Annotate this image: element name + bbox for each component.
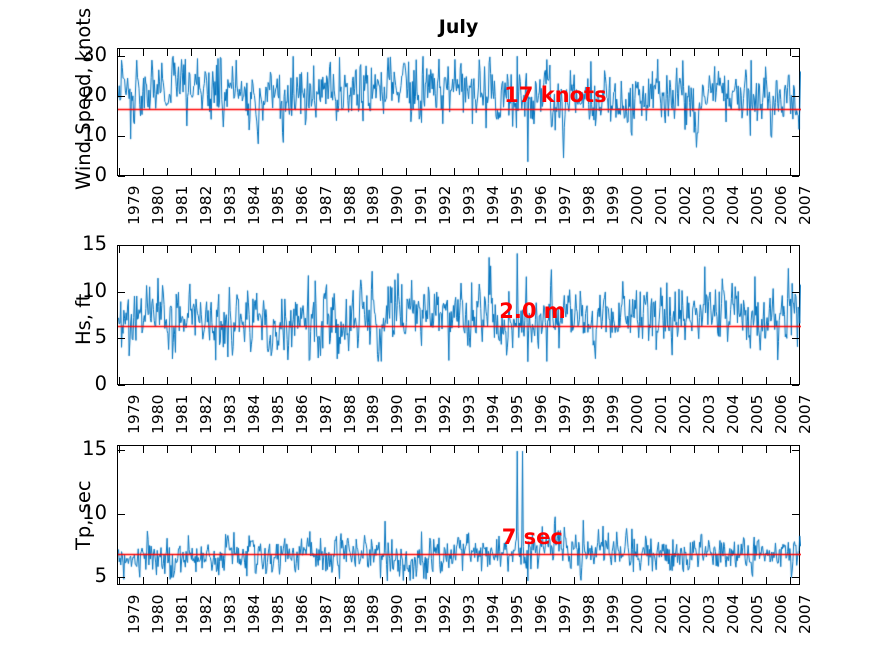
xtick-label-1999: 1999: [604, 395, 622, 434]
xtick-label-2007: 2007: [796, 186, 814, 225]
panel-3-xtick-mark: [454, 446, 455, 453]
panel-1-xtick-mark: [478, 49, 479, 56]
panel-1-xtick-mark: [790, 168, 791, 175]
panel-3-xtick-mark: [742, 446, 743, 453]
xtick-label-1981: 1981: [173, 595, 191, 634]
panel-2-xtick-mark: [718, 377, 719, 384]
panel-2-xtick-mark: [526, 246, 527, 253]
panel-1-ytick-mark: [792, 56, 799, 57]
panel-2-ytick-mark: [118, 292, 125, 293]
xtick-label-1989: 1989: [364, 186, 382, 225]
panel-2-xtick-mark: [598, 246, 599, 253]
panel-2-xtick-mark: [478, 246, 479, 253]
panel-1-xtick-mark: [430, 49, 431, 56]
panel-2-plot-area: [117, 245, 800, 385]
xtick-label-1979: 1979: [125, 595, 143, 634]
xtick-label-1994: 1994: [484, 186, 502, 225]
xtick-label-1980: 1980: [149, 395, 167, 434]
panel-1-series-canvas: [118, 49, 801, 177]
panel-3-ytick-mark: [118, 514, 125, 515]
panel-2-xtick-mark: [167, 377, 168, 384]
xtick-label-1996: 1996: [532, 395, 550, 434]
xtick-label-1985: 1985: [269, 595, 287, 634]
panel-1-xtick-mark: [526, 168, 527, 175]
panel-1-xtick-mark: [239, 168, 240, 175]
panel-3-xtick-mark: [167, 577, 168, 584]
xtick-label-1998: 1998: [580, 186, 598, 225]
panel-2-series-canvas: [118, 246, 801, 386]
panel-1-ytick-mark: [792, 136, 799, 137]
xtick-label-1990: 1990: [388, 595, 406, 634]
panel-3-xtick-mark: [406, 577, 407, 584]
panel-2-xtick-mark: [335, 246, 336, 253]
panel-2-xtick-mark: [335, 377, 336, 384]
xtick-label-2002: 2002: [676, 595, 694, 634]
xtick-label-1984: 1984: [245, 595, 263, 634]
xtick-label-1989: 1989: [364, 395, 382, 434]
panel-3-xtick-mark: [550, 577, 551, 584]
panel-2-xtick-mark: [239, 377, 240, 384]
panel-2-xtick-mark: [502, 246, 503, 253]
xtick-label-1979: 1979: [125, 186, 143, 225]
panel-1-xtick-mark: [478, 168, 479, 175]
panel-2-xtick-mark: [574, 377, 575, 384]
panel-1-xtick-mark: [454, 49, 455, 56]
panel-1-xtick-mark: [598, 49, 599, 56]
xtick-label-2002: 2002: [676, 186, 694, 225]
panel-3-xtick-mark: [790, 577, 791, 584]
panel-2-xtick-mark: [191, 377, 192, 384]
panel-2-xtick-mark: [550, 377, 551, 384]
panel-3-ytick-label: 15: [55, 437, 107, 460]
panel-2-xtick-mark: [694, 246, 695, 253]
panel-1-xtick-mark: [382, 49, 383, 56]
xtick-label-1987: 1987: [317, 186, 335, 225]
panel-1-xtick-mark: [550, 49, 551, 56]
panel-2-xtick-mark: [430, 246, 431, 253]
xtick-label-2005: 2005: [748, 186, 766, 225]
xtick-label-1991: 1991: [412, 595, 430, 634]
xtick-label-1988: 1988: [341, 186, 359, 225]
panel-2-xtick-mark: [263, 377, 264, 384]
xtick-label-1995: 1995: [508, 186, 526, 225]
panel-2-xtick-mark: [119, 377, 120, 384]
panel-2-xtick-mark: [766, 246, 767, 253]
panel-1-ytick-mark: [118, 56, 125, 57]
xtick-label-2001: 2001: [652, 186, 670, 225]
panel-1-ytick-label: 0: [55, 163, 107, 186]
panel-2-xtick-mark: [143, 377, 144, 384]
panel-2-xtick-mark: [670, 377, 671, 384]
xtick-label-1987: 1987: [317, 395, 335, 434]
panel-1-xtick-mark: [143, 49, 144, 56]
panel-3-xtick-mark: [478, 446, 479, 453]
panel-2-xtick-mark: [646, 377, 647, 384]
xtick-label-1981: 1981: [173, 186, 191, 225]
xtick-label-1992: 1992: [436, 595, 454, 634]
xtick-label-1988: 1988: [341, 395, 359, 434]
panel-2-ytick-label: 0: [55, 372, 107, 395]
panel-3-xtick-mark: [358, 446, 359, 453]
panel-3-xtick-mark: [382, 446, 383, 453]
panel-1-xtick-mark: [622, 168, 623, 175]
xtick-label-1998: 1998: [580, 395, 598, 434]
panel-3-xtick-mark: [718, 446, 719, 453]
panel-2-xtick-mark: [358, 246, 359, 253]
panel-3-xtick-mark: [526, 446, 527, 453]
panel-1-ytick-mark: [118, 96, 125, 97]
xtick-label-1986: 1986: [293, 595, 311, 634]
panel-3-xtick-mark: [191, 577, 192, 584]
panel-2-ytick-mark: [118, 338, 125, 339]
panel-3-xtick-mark: [358, 577, 359, 584]
xtick-label-1991: 1991: [412, 186, 430, 225]
panel-3-xtick-mark: [622, 577, 623, 584]
xtick-label-2007: 2007: [796, 395, 814, 434]
xtick-label-2005: 2005: [748, 595, 766, 634]
xtick-label-2006: 2006: [772, 186, 790, 225]
panel-1-xtick-mark: [694, 168, 695, 175]
panel-1-ytick-mark: [792, 176, 799, 177]
panel-1-xtick-mark: [406, 168, 407, 175]
panel-2-xtick-mark: [526, 377, 527, 384]
panel-2-ytick-mark: [792, 245, 799, 246]
panel-3-xtick-mark: [766, 577, 767, 584]
panel-2-ytick-mark: [792, 385, 799, 386]
panel-3-xtick-mark: [478, 577, 479, 584]
panel-3-xtick-mark: [622, 446, 623, 453]
xtick-label-1983: 1983: [221, 186, 239, 225]
panel-2-xtick-mark: [742, 377, 743, 384]
panel-1-xtick-mark: [694, 49, 695, 56]
panel-2-ytick-mark: [118, 385, 125, 386]
xtick-label-2000: 2000: [628, 395, 646, 434]
panel-3-xtick-mark: [574, 446, 575, 453]
xtick-label-1986: 1986: [293, 186, 311, 225]
xtick-label-1988: 1988: [341, 595, 359, 634]
xtick-label-1986: 1986: [293, 395, 311, 434]
panel-3-xtick-mark: [718, 577, 719, 584]
panel-1-xtick-mark: [670, 168, 671, 175]
xtick-label-1998: 1998: [580, 595, 598, 634]
xtick-label-1982: 1982: [197, 595, 215, 634]
xtick-label-2006: 2006: [772, 595, 790, 634]
xtick-label-2005: 2005: [748, 395, 766, 434]
panel-3-xtick-mark: [119, 577, 120, 584]
panel-2-xtick-mark: [622, 246, 623, 253]
panel-1-xtick-mark: [263, 168, 264, 175]
panel-1-xtick-mark: [167, 168, 168, 175]
xtick-label-2002: 2002: [676, 395, 694, 434]
panel-1-xtick-mark: [742, 49, 743, 56]
panel-1-xtick-mark: [574, 49, 575, 56]
panel-2-xtick-mark: [406, 246, 407, 253]
panel-2-xtick-mark: [694, 377, 695, 384]
panel-3-xtick-mark: [526, 577, 527, 584]
panel-3-ytick-mark: [792, 450, 799, 451]
panel-2-xtick-mark: [311, 377, 312, 384]
panel-3-xtick-mark: [574, 577, 575, 584]
panel-2-ytick-mark: [792, 292, 799, 293]
panel-2-xtick-mark: [215, 246, 216, 253]
panel-1-annotation: 17 knots: [504, 83, 606, 107]
panel-2-xtick-mark: [215, 377, 216, 384]
panel-2-xtick-mark: [239, 246, 240, 253]
panel-2-annotation: 2.0 m: [499, 299, 565, 323]
panel-3-xtick-mark: [215, 577, 216, 584]
panel-3-xtick-mark: [598, 446, 599, 453]
xtick-label-2004: 2004: [724, 395, 742, 434]
xtick-label-2004: 2004: [724, 595, 742, 634]
panel-3-xtick-mark: [311, 577, 312, 584]
panel-3-xtick-mark: [311, 446, 312, 453]
panel-2-xtick-mark: [766, 377, 767, 384]
panel-3-xtick-mark: [263, 577, 264, 584]
panel-1-xtick-mark: [191, 168, 192, 175]
panel-2-xtick-mark: [358, 377, 359, 384]
panel-3-xtick-mark: [119, 446, 120, 453]
panel-1-ytick-label: 20: [55, 83, 107, 106]
panel-1-ytick-mark: [118, 176, 125, 177]
panel-1-xtick-mark: [406, 49, 407, 56]
panel-1-xtick-mark: [502, 49, 503, 56]
xtick-label-1980: 1980: [149, 595, 167, 634]
panel-2-xtick-mark: [143, 246, 144, 253]
panel-2-ytick-label: 5: [55, 325, 107, 348]
panel-3-plot-area: [117, 445, 800, 585]
panel-2-xtick-mark: [550, 246, 551, 253]
panel-3-xtick-mark: [406, 446, 407, 453]
xtick-label-1993: 1993: [460, 395, 478, 434]
xtick-label-2007: 2007: [796, 595, 814, 634]
xtick-label-1984: 1984: [245, 186, 263, 225]
panel-2-xtick-mark: [718, 246, 719, 253]
xtick-label-1996: 1996: [532, 595, 550, 634]
panel-2-ytick-label: 10: [55, 279, 107, 302]
panel-2-xtick-mark: [742, 246, 743, 253]
xtick-label-2006: 2006: [772, 395, 790, 434]
panel-2-xtick-mark: [502, 377, 503, 384]
panel-1-xtick-mark: [358, 168, 359, 175]
panel-1-xtick-mark: [790, 49, 791, 56]
panel-1-xtick-mark: [263, 49, 264, 56]
xtick-label-1980: 1980: [149, 186, 167, 225]
panel-3-xtick-mark: [215, 446, 216, 453]
panel-3-xtick-mark: [646, 577, 647, 584]
xtick-label-1997: 1997: [556, 186, 574, 225]
panel-3-xtick-mark: [742, 577, 743, 584]
panel-1-xtick-mark: [574, 168, 575, 175]
xtick-label-1993: 1993: [460, 186, 478, 225]
xtick-label-1992: 1992: [436, 186, 454, 225]
panel-1-plot-area: [117, 48, 800, 176]
xtick-label-1990: 1990: [388, 186, 406, 225]
xtick-label-1987: 1987: [317, 595, 335, 634]
panel-3-ytick-mark: [792, 514, 799, 515]
panel-3-xtick-mark: [694, 577, 695, 584]
panel-3-xtick-mark: [239, 577, 240, 584]
panel-1-xtick-mark: [742, 168, 743, 175]
panel-2-xtick-mark: [167, 246, 168, 253]
panel-2-xtick-mark: [382, 377, 383, 384]
xtick-label-1989: 1989: [364, 595, 382, 634]
xtick-label-1995: 1995: [508, 595, 526, 634]
xtick-label-1979: 1979: [125, 395, 143, 434]
panel-2-xtick-mark: [670, 246, 671, 253]
xtick-label-1984: 1984: [245, 395, 263, 434]
panel-3-xtick-mark: [550, 446, 551, 453]
panel-1-xtick-mark: [526, 49, 527, 56]
panel-1-xtick-mark: [287, 168, 288, 175]
xtick-label-1985: 1985: [269, 186, 287, 225]
panel-1-xtick-mark: [311, 49, 312, 56]
panel-3-xtick-mark: [287, 446, 288, 453]
panel-3-annotation: 7 sec: [502, 525, 563, 549]
panel-3-xtick-mark: [263, 446, 264, 453]
xtick-label-1999: 1999: [604, 186, 622, 225]
xtick-label-2003: 2003: [700, 595, 718, 634]
panel-3-xtick-mark: [191, 446, 192, 453]
panel-1-ytick-label: 30: [55, 43, 107, 66]
panel-3-xtick-mark: [335, 577, 336, 584]
panel-2-xtick-mark: [263, 246, 264, 253]
xtick-label-2003: 2003: [700, 395, 718, 434]
panel-3-xtick-mark: [239, 446, 240, 453]
panel-1-xtick-mark: [191, 49, 192, 56]
xtick-label-1997: 1997: [556, 395, 574, 434]
panel-2-xtick-mark: [598, 377, 599, 384]
panel-1-xtick-mark: [430, 168, 431, 175]
panel-1-xtick-mark: [335, 168, 336, 175]
panel-3-xtick-mark: [382, 577, 383, 584]
panel-1-xtick-mark: [550, 168, 551, 175]
xtick-label-1982: 1982: [197, 186, 215, 225]
panel-3-xtick-mark: [646, 446, 647, 453]
xtick-label-1994: 1994: [484, 395, 502, 434]
panel-2-xtick-mark: [287, 377, 288, 384]
xtick-label-2000: 2000: [628, 595, 646, 634]
panel-1-ytick-mark: [118, 136, 125, 137]
xtick-label-1997: 1997: [556, 595, 574, 634]
panel-3-xtick-mark: [790, 446, 791, 453]
panel-1-xtick-mark: [287, 49, 288, 56]
panel-1-xtick-mark: [335, 49, 336, 56]
panel-1-xtick-mark: [382, 168, 383, 175]
panel-1-xtick-mark: [143, 168, 144, 175]
panel-2-xtick-mark: [622, 377, 623, 384]
panel-2-xtick-mark: [574, 246, 575, 253]
panel-3-xtick-mark: [766, 446, 767, 453]
figure-title: July: [117, 16, 800, 38]
panel-1-xtick-mark: [766, 168, 767, 175]
panel-2-xtick-mark: [406, 377, 407, 384]
panel-2-xtick-mark: [790, 246, 791, 253]
panel-1-xtick-mark: [622, 49, 623, 56]
panel-2-ytick-label: 15: [55, 232, 107, 255]
panel-2-xtick-mark: [646, 246, 647, 253]
xtick-label-1982: 1982: [197, 395, 215, 434]
panel-1-xtick-mark: [670, 49, 671, 56]
panel-3-xtick-mark: [670, 577, 671, 584]
panel-3-ytick-mark: [792, 577, 799, 578]
panel-3-xtick-mark: [143, 577, 144, 584]
xtick-label-2001: 2001: [652, 595, 670, 634]
xtick-label-2004: 2004: [724, 186, 742, 225]
panel-2-xtick-mark: [119, 246, 120, 253]
panel-3-xtick-mark: [598, 577, 599, 584]
panel-1-xtick-mark: [646, 49, 647, 56]
panel-1-xtick-mark: [454, 168, 455, 175]
xtick-label-1983: 1983: [221, 395, 239, 434]
panel-3-ytick-label: 5: [55, 564, 107, 587]
panel-1-xtick-mark: [311, 168, 312, 175]
xtick-label-1985: 1985: [269, 395, 287, 434]
xtick-label-1993: 1993: [460, 595, 478, 634]
panel-2-xtick-mark: [790, 377, 791, 384]
panel-1-xtick-mark: [167, 49, 168, 56]
panel-1-xtick-mark: [766, 49, 767, 56]
panel-3-xtick-mark: [143, 446, 144, 453]
xtick-label-1994: 1994: [484, 595, 502, 634]
panel-1-xtick-mark: [215, 49, 216, 56]
xtick-label-2000: 2000: [628, 186, 646, 225]
xtick-label-1991: 1991: [412, 395, 430, 434]
xtick-label-1992: 1992: [436, 395, 454, 434]
xtick-label-1996: 1996: [532, 186, 550, 225]
panel-2-xtick-mark: [191, 246, 192, 253]
panel-1-ytick-label: 10: [55, 123, 107, 146]
panel-1-xtick-mark: [119, 168, 120, 175]
figure-canvas: July Wind Speed, knots 0102030 197919801…: [0, 0, 875, 656]
panel-1-xtick-mark: [239, 49, 240, 56]
xtick-label-2001: 2001: [652, 395, 670, 434]
xtick-label-2003: 2003: [700, 186, 718, 225]
panel-1-xtick-mark: [718, 168, 719, 175]
panel-3-xtick-mark: [335, 446, 336, 453]
panel-3-xtick-mark: [430, 446, 431, 453]
panel-2-xtick-mark: [287, 246, 288, 253]
panel-3-xtick-mark: [670, 446, 671, 453]
xtick-label-1995: 1995: [508, 395, 526, 434]
xtick-label-1981: 1981: [173, 395, 191, 434]
xtick-label-1990: 1990: [388, 395, 406, 434]
xtick-label-1983: 1983: [221, 595, 239, 634]
panel-2-xtick-mark: [454, 377, 455, 384]
panel-3-xtick-mark: [502, 446, 503, 453]
panel-1-xtick-mark: [358, 49, 359, 56]
panel-3-xtick-mark: [502, 577, 503, 584]
panel-1-xtick-mark: [598, 168, 599, 175]
xtick-label-1999: 1999: [604, 595, 622, 634]
panel-1-xtick-mark: [119, 49, 120, 56]
panel-1-xtick-mark: [502, 168, 503, 175]
panel-3-xtick-mark: [454, 577, 455, 584]
panel-2-xtick-mark: [478, 377, 479, 384]
panel-2-xtick-mark: [430, 377, 431, 384]
panel-3-series-canvas: [118, 446, 801, 586]
panel-1-xtick-mark: [646, 168, 647, 175]
panel-2-xtick-mark: [454, 246, 455, 253]
panel-2-xtick-mark: [382, 246, 383, 253]
panel-2-ytick-mark: [792, 338, 799, 339]
panel-3-xtick-mark: [430, 577, 431, 584]
panel-1-xtick-mark: [718, 49, 719, 56]
panel-3-xtick-mark: [167, 446, 168, 453]
panel-2-xtick-mark: [311, 246, 312, 253]
panel-1-ytick-mark: [792, 96, 799, 97]
panel-3-xtick-mark: [694, 446, 695, 453]
panel-3-xtick-mark: [287, 577, 288, 584]
